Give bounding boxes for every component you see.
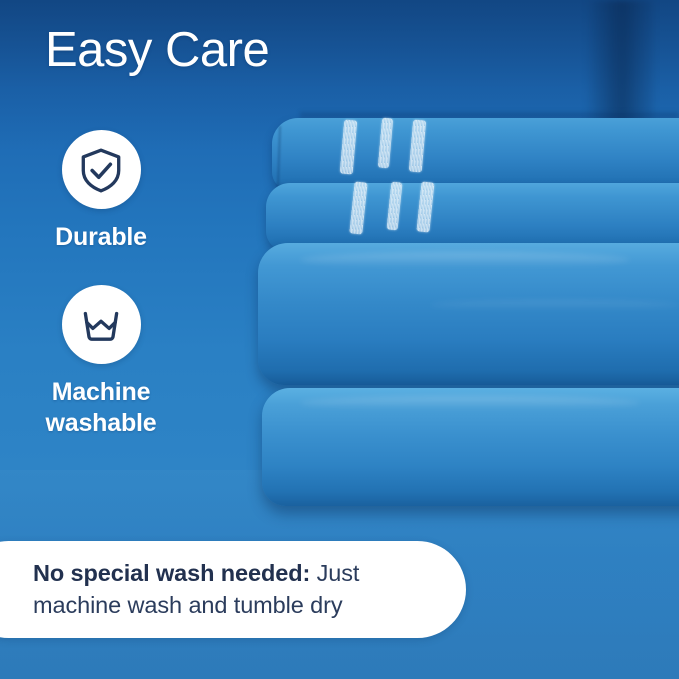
product-feature-panel: Easy Care Durable Machine washable No sp…	[0, 0, 679, 679]
feature-machine-washable: Machine washable	[1, 285, 201, 438]
caption-banner: No special wash needed: Just machine was…	[0, 541, 466, 638]
folded-pillowcase-top	[272, 118, 679, 190]
feature-durable: Durable	[1, 130, 201, 253]
feature-machine-washable-label: Machine washable	[1, 377, 201, 438]
folded-pillowcase-second	[266, 183, 679, 251]
wash-tub-icon	[62, 285, 141, 364]
fabric-crease-highlight	[430, 300, 679, 310]
feature-durable-label: Durable	[1, 222, 201, 253]
shield-check-icon	[62, 130, 141, 209]
fabric-crease-highlight	[300, 252, 630, 268]
caption-lead: No special wash needed:	[33, 560, 310, 586]
page-title: Easy Care	[45, 22, 269, 78]
feature-label-line-1: Machine	[1, 377, 201, 408]
caption-text: No special wash needed: Just machine was…	[33, 558, 424, 621]
fabric-crease-highlight	[300, 396, 640, 410]
feature-label-line-2: washable	[1, 408, 201, 439]
